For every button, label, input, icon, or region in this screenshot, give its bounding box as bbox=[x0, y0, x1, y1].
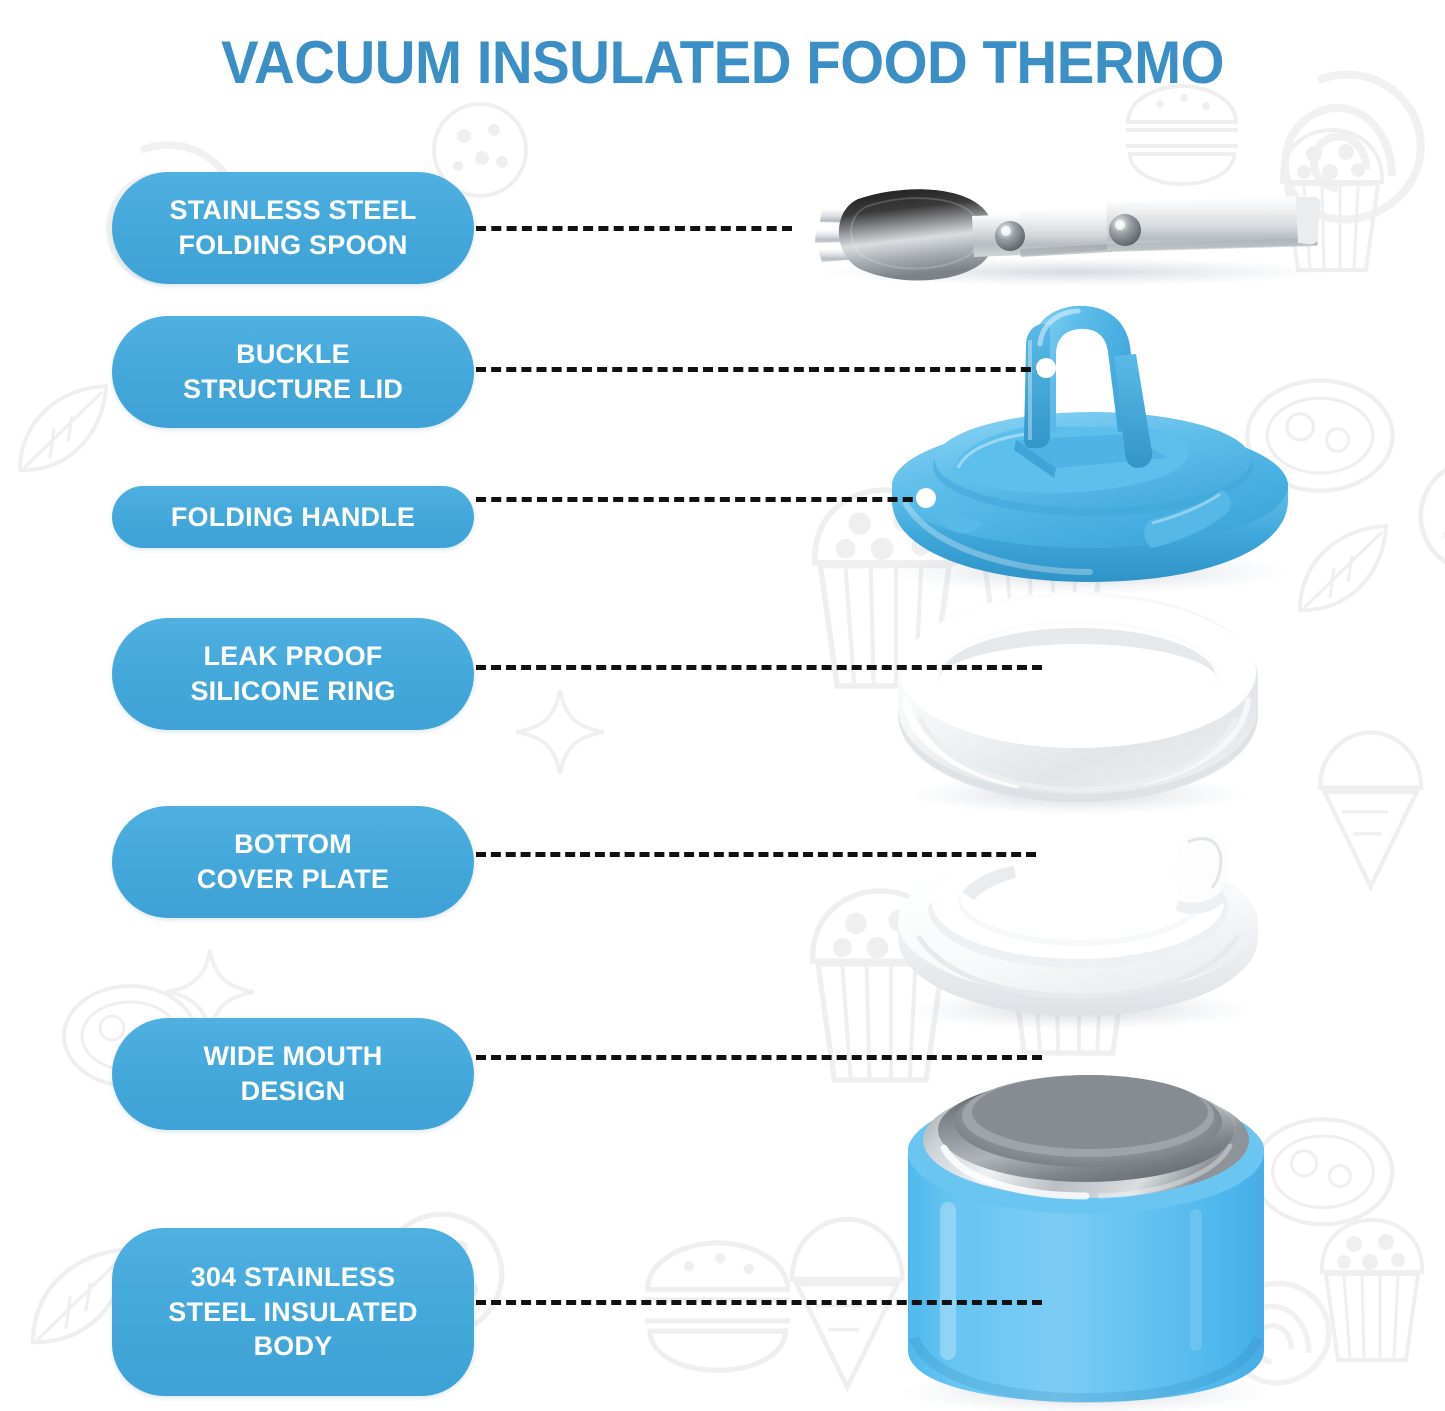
callout-line: BODY bbox=[254, 1331, 333, 1361]
callout-line: BOTTOM bbox=[234, 829, 352, 859]
callout-stainless-steel-folding-spoon[interactable]: STAINLESS STEEL FOLDING SPOON bbox=[112, 172, 474, 284]
leader-line-wide-mouth-design bbox=[476, 1055, 1042, 1060]
callout-304-stainless-steel-insulated-body[interactable]: 304 STAINLESS STEEL INSULATED BODY bbox=[112, 1228, 474, 1396]
bottom-cover-plate-art bbox=[898, 833, 1258, 1030]
callout-line: COVER PLATE bbox=[197, 864, 389, 894]
leader-dot-buckle-structure-lid bbox=[1036, 358, 1056, 378]
callout-line: DESIGN bbox=[241, 1076, 346, 1106]
leader-line-leak-proof-silicone-ring bbox=[476, 665, 1042, 670]
infographic-page: VACUUM INSULATED FOOD THERMO bbox=[0, 0, 1445, 1411]
callout-line: STAINLESS STEEL bbox=[169, 195, 416, 225]
leader-dot-folding-handle bbox=[916, 488, 936, 508]
callout-line: FOLDING SPOON bbox=[178, 230, 407, 260]
leader-line-buckle-structure-lid bbox=[476, 367, 1046, 372]
callout-buckle-structure-lid[interactable]: BUCKLE STRUCTURE LID bbox=[112, 316, 474, 428]
callout-line: WIDE MOUTH bbox=[204, 1041, 383, 1071]
callout-bottom-cover-plate[interactable]: BOTTOM COVER PLATE bbox=[112, 806, 474, 918]
lid-art bbox=[890, 306, 1290, 594]
callout-leak-proof-silicone-ring[interactable]: LEAK PROOF SILICONE RING bbox=[112, 618, 474, 730]
callout-wide-mouth-design[interactable]: WIDE MOUTH DESIGN bbox=[112, 1018, 474, 1130]
callout-line: STRUCTURE LID bbox=[183, 374, 403, 404]
leader-line-folding-handle bbox=[476, 497, 928, 502]
leader-line-stainless-steel-folding-spoon bbox=[476, 226, 792, 231]
page-title: VACUUM INSULATED FOOD THERMO bbox=[43, 28, 1401, 97]
callout-line: SILICONE RING bbox=[190, 676, 395, 706]
callout-line: 304 STAINLESS bbox=[191, 1262, 396, 1292]
callout-line: LEAK PROOF bbox=[203, 641, 382, 671]
leader-line-304-stainless-steel-insulated-body bbox=[476, 1300, 1042, 1305]
callout-line: STEEL INSULATED bbox=[168, 1297, 418, 1327]
callout-folding-handle[interactable]: FOLDING HANDLE bbox=[112, 486, 474, 548]
callout-line: BUCKLE bbox=[236, 339, 350, 369]
silicone-ring-art bbox=[898, 592, 1258, 815]
insulated-body-art bbox=[900, 1075, 1270, 1411]
callout-line: FOLDING HANDLE bbox=[130, 500, 456, 535]
leader-line-bottom-cover-plate bbox=[476, 852, 1036, 857]
folding-spork-art bbox=[815, 189, 1330, 286]
